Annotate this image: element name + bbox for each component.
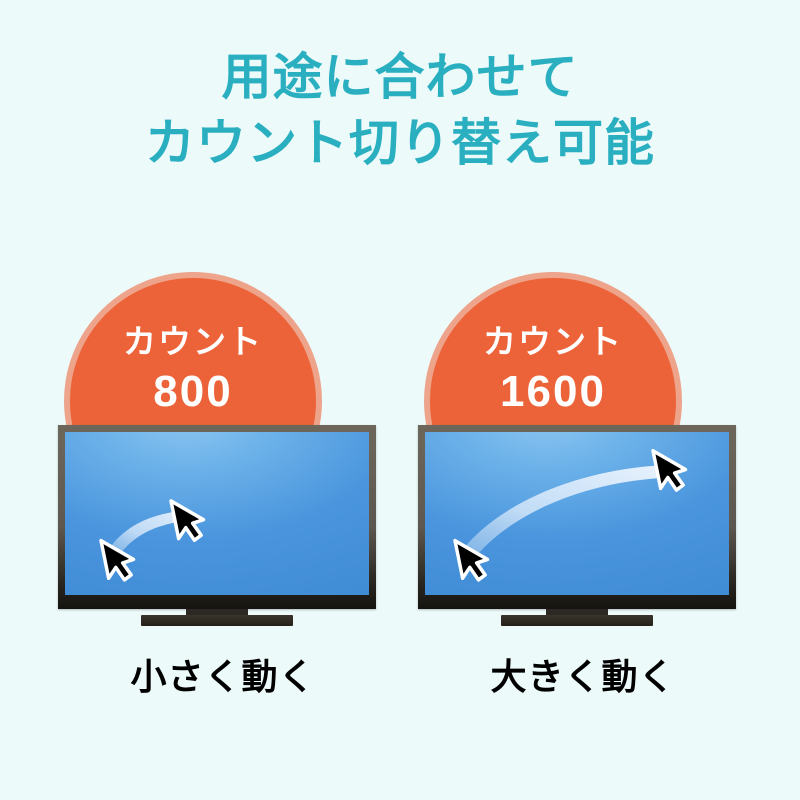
count-badge-1600-value: 1600: [430, 364, 676, 419]
caption-large-movement: 大きく動く: [418, 648, 748, 700]
count-badge-800-text: カウント 800: [70, 324, 316, 419]
tv-illustration-1600: [418, 425, 736, 625]
poster-canvas: 用途に合わせて カウント切り替え可能 カウント 800: [0, 0, 800, 800]
page-title: 用途に合わせて カウント切り替え可能: [0, 44, 800, 176]
panel-count-1600: カウント 1600: [418, 260, 748, 720]
tv-stand-800: [141, 615, 293, 626]
cursor-trail-short: [109, 511, 179, 554]
tv-illustration-800: [58, 425, 376, 625]
cursor-motion-short-svg: [65, 432, 369, 595]
headline-line-2: カウント切り替え可能: [0, 110, 800, 176]
tv-bezel-800: [58, 425, 376, 609]
count-badge-1600-text: カウント 1600: [430, 324, 676, 419]
caption-small-movement: 小さく動く: [58, 648, 388, 700]
cursor-motion-long-svg: [425, 432, 729, 595]
tv-bezel-1600: [418, 425, 736, 609]
tv-screen-800: [65, 432, 369, 595]
cursor-arrow-end-800: [171, 495, 207, 544]
panel-count-800: カウント 800: [58, 260, 388, 720]
cursor-trail-long: [463, 465, 661, 555]
count-badge-800-label: カウント: [70, 324, 316, 360]
tv-stand-1600: [501, 615, 653, 626]
count-badge-800-value: 800: [70, 364, 316, 419]
count-badge-1600-label: カウント: [430, 324, 676, 360]
cursor-arrow-end-1600: [653, 445, 689, 494]
headline-line-1: 用途に合わせて: [0, 44, 800, 110]
tv-screen-1600: [425, 432, 729, 595]
